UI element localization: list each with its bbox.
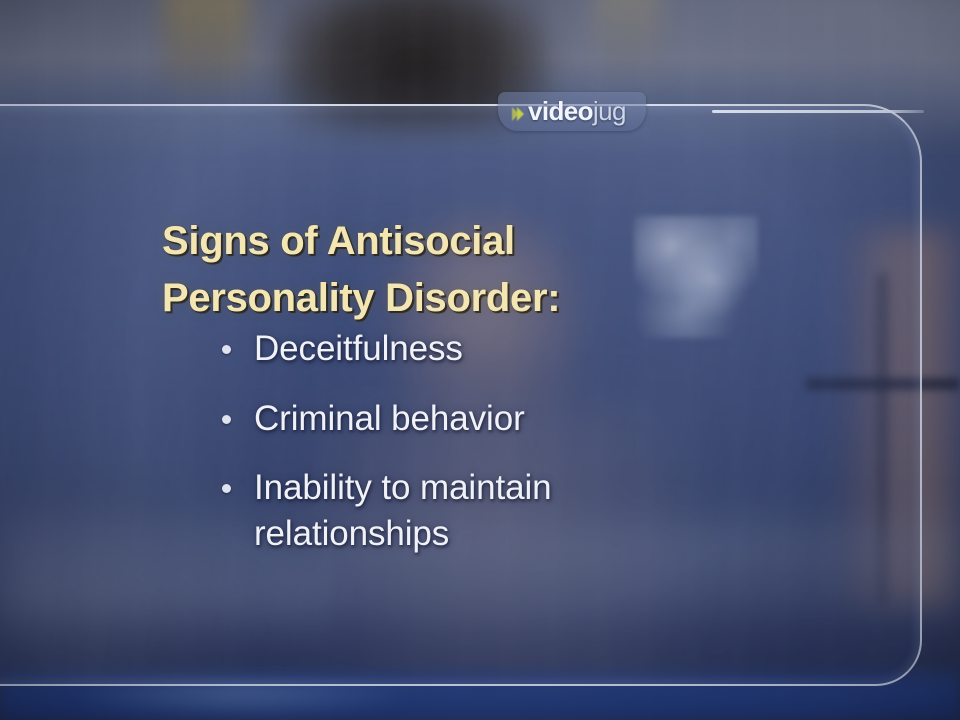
list-item-label: Inability to maintain relationships [254,468,552,553]
bullet-dot-icon [222,415,231,424]
list-item: Deceitfulness [214,326,734,372]
list-item: Inability to maintain relationships [214,465,734,556]
bullet-dot-icon [222,345,231,354]
list-item-label: Criminal behavior [254,399,525,438]
list-item-label: Deceitfulness [254,329,463,368]
slide-content: Signs of Antisocial Personality Disorder… [0,104,960,682]
list-item: Criminal behavior [214,396,734,442]
slide-title-line-1: Signs of Antisocial [162,213,722,270]
video-frame: videojug Signs of Antisocial Personality… [0,0,960,720]
bullet-dot-icon [222,484,231,493]
slide-title: Signs of Antisocial Personality Disorder… [162,213,722,327]
symptom-list: Deceitfulness Criminal behavior Inabilit… [214,326,734,556]
slide-title-line-2: Personality Disorder: [162,270,722,327]
